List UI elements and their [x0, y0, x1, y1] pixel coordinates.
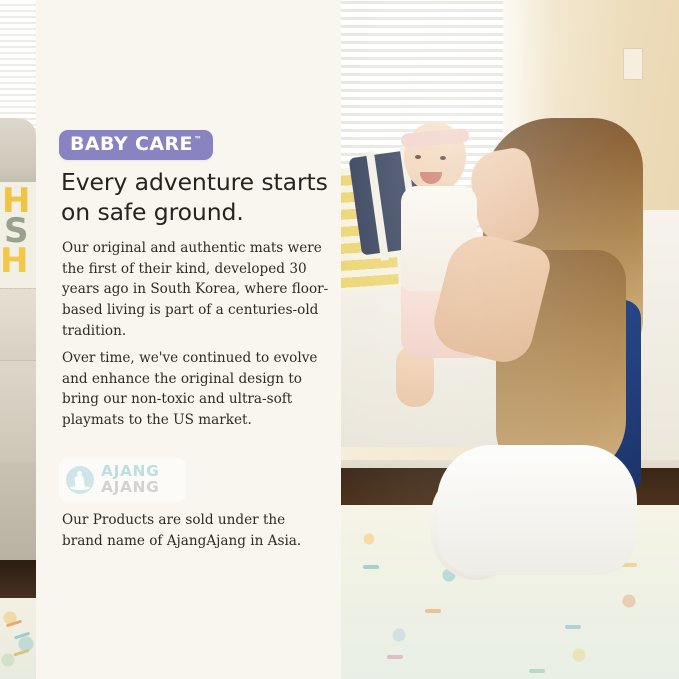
baby-care-logo-badge: BABY CARE ™ [59, 130, 213, 160]
trademark-icon: ™ [194, 136, 202, 144]
baby-care-logo-text: BABY CARE [70, 135, 193, 154]
pillow-letter-3: H [0, 244, 28, 278]
ajangajang-logo: AJANG AJANG [59, 458, 186, 502]
mother-pants-decor [437, 445, 637, 575]
lifestyle-photo [341, 0, 679, 679]
sofa-base-decor [0, 462, 36, 567]
body-paragraph-1: Our original and authentic mats were the… [62, 238, 330, 341]
ajang-circle-mark-icon [66, 466, 94, 494]
letter-pillow-decor: H S H [0, 182, 36, 292]
sofa-seat-decor [0, 288, 36, 367]
wood-floor-decor [0, 560, 36, 602]
left-photo-strip: H S H [0, 0, 36, 679]
body-paragraph-2: Over time, we've continued to evolve and… [62, 348, 330, 431]
sofa-seat-lower-decor [0, 360, 36, 471]
baby-eye-left-decor [415, 155, 421, 159]
footer-note: Our Products are sold under the brand na… [62, 510, 330, 551]
ajang-wordmark-line-2: AJANG [101, 480, 159, 496]
playmat-decor-left [0, 598, 36, 679]
page-title: Every adventure starts on safe ground. [61, 168, 336, 227]
ajang-wordmark: AJANG AJANG [101, 464, 159, 496]
text-panel: BABY CARE ™ Every adventure starts on sa… [41, 0, 341, 679]
light-switch-decor [623, 48, 643, 80]
baby-eye-right-decor [440, 156, 446, 160]
window-blinds-decor [0, 0, 36, 128]
product-lifestyle-banner: H S H BABY CARE ™ Every adventure starts… [0, 0, 679, 679]
